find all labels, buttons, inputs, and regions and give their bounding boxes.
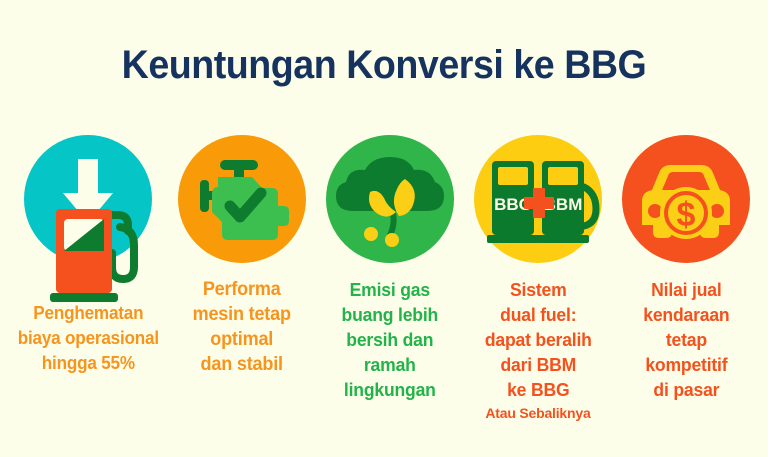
benefit-caption-3: Emisi gas buang lebih bersih dan ramah l… <box>342 277 439 402</box>
benefit-caption-5: Nilai jual kendaraan tetap kompetitif di… <box>643 277 729 402</box>
benefit-card-emisi-gas[interactable]: Emisi gas buang lebih bersih dan ramah l… <box>316 135 464 402</box>
tree-leaf-eco-icon <box>326 135 454 263</box>
benefit-icon-circle-2 <box>178 135 306 263</box>
benefit-icon-circle-3 <box>326 135 454 263</box>
benefit-caption-4: Sistem dual fuel: dapat beralih dari BBM… <box>484 277 591 402</box>
benefit-card-nilai-jual[interactable]: $ Nilai jual kendaraan tetap kompetitif … <box>612 135 760 402</box>
benefit-icon-circle-1 <box>24 135 152 263</box>
benefit-caption-2: Performa mesin tetap optimal dan stabil <box>193 277 291 377</box>
dual-fuel-pumps-icon: BBG BBM <box>474 135 602 263</box>
car-dollar-value-icon: $ <box>622 135 750 263</box>
engine-check-icon <box>178 135 306 263</box>
benefit-caption-1: Penghematan biaya operasional hingga 55% <box>17 301 158 376</box>
benefit-card-penghematan-biaya[interactable]: Penghematan biaya operasional hingga 55% <box>8 135 168 376</box>
dollar-symbol: $ <box>677 196 696 234</box>
page-title: Keuntungan Konversi ke BBG <box>23 42 745 88</box>
benefit-subcaption-4: Atau Sebaliknya <box>485 404 590 422</box>
fuel-pump-down-arrow-icon <box>24 135 152 263</box>
benefit-icon-circle-5: $ <box>622 135 750 263</box>
benefit-card-dual-fuel[interactable]: BBG BBM Sistem dual fuel: dapat beralih … <box>464 135 612 422</box>
benefit-icon-circle-4: BBG BBM <box>474 135 602 263</box>
benefit-card-performa-mesin[interactable]: Performa mesin tetap optimal dan stabil <box>168 135 316 377</box>
benefits-row: Penghematan biaya operasional hingga 55% <box>0 135 768 457</box>
infographic-canvas: Keuntungan Konversi ke BBG <box>0 0 768 457</box>
